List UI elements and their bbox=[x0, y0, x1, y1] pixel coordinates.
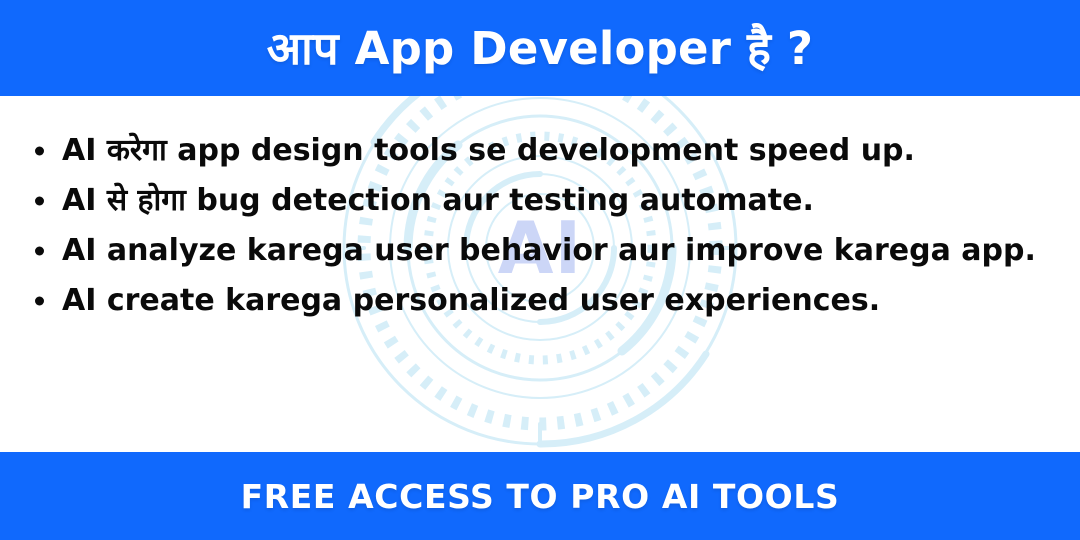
list-item: AI analyze karega user behavior aur impr… bbox=[35, 226, 1080, 276]
promo-poster: आप App Developer है ? bbox=[0, 0, 1080, 540]
bullet-dot-icon bbox=[35, 197, 44, 206]
cta-banner-text: FREE ACCESS TO PRO AI TOOLS bbox=[241, 480, 840, 513]
bullet-dot-icon bbox=[35, 297, 44, 306]
list-item-label: AI करेगा app design tools se development… bbox=[62, 133, 915, 168]
page-title: आप App Developer है ? bbox=[267, 26, 813, 71]
list-item-label: AI create karega personalized user exper… bbox=[62, 283, 880, 318]
bullet-dot-icon bbox=[35, 147, 44, 156]
benefits-list: AI करेगा app design tools se development… bbox=[0, 96, 1080, 326]
content-area: AI AI करेगा app design tools se developm… bbox=[0, 96, 1080, 452]
list-item-label: AI analyze karega user behavior aur impr… bbox=[62, 233, 1036, 268]
list-item: AI create karega personalized user exper… bbox=[35, 276, 1080, 326]
list-item: AI से होगा bug detection aur testing aut… bbox=[35, 176, 1080, 226]
list-item-label: AI से होगा bug detection aur testing aut… bbox=[62, 183, 814, 218]
list-item: AI करेगा app design tools se development… bbox=[35, 126, 1080, 176]
header-band: आप App Developer है ? bbox=[0, 0, 1080, 96]
bullet-dot-icon bbox=[35, 247, 44, 256]
footer-band: FREE ACCESS TO PRO AI TOOLS bbox=[0, 452, 1080, 540]
